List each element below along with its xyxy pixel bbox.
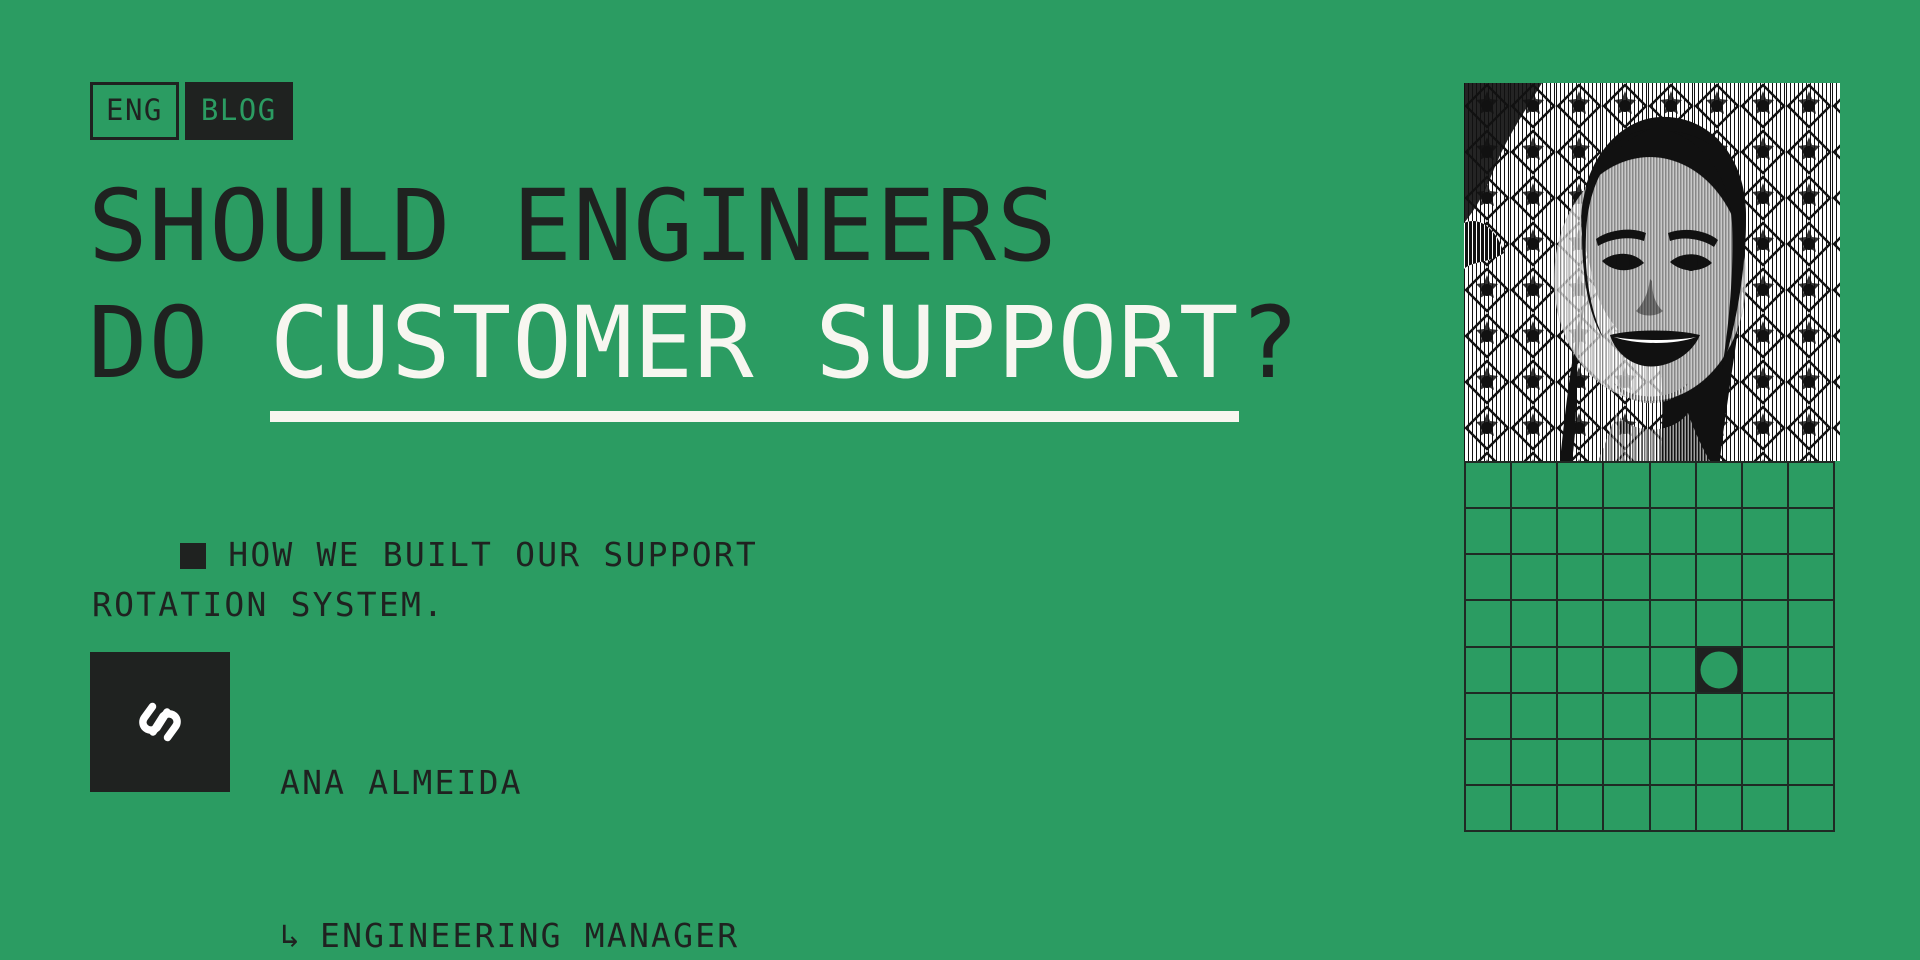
grid-cell xyxy=(1743,555,1789,601)
grid-cell xyxy=(1466,555,1512,601)
page-title: SHOULD ENGINEERS DO CUSTOMER SUPPORT? xyxy=(88,168,1428,402)
grid-cell xyxy=(1512,786,1558,832)
grid-cell xyxy=(1512,555,1558,601)
grid-cell xyxy=(1651,463,1697,509)
arrow-right-down-icon: ↳ xyxy=(280,910,320,960)
grid-cell xyxy=(1743,786,1789,832)
author-name: ANA ALMEIDA xyxy=(280,757,783,808)
grid-cell xyxy=(1651,786,1697,832)
grid-cell xyxy=(1604,463,1650,509)
grid-cell xyxy=(1697,694,1743,740)
grid-cell xyxy=(1604,786,1650,832)
subtitle: HOW WE BUILT OUR SUPPORT ROTATION SYSTEM… xyxy=(92,480,892,680)
grid-cell xyxy=(1466,648,1512,694)
grid-cell-circle-cutout-icon xyxy=(1697,648,1743,694)
grid-cell xyxy=(1789,694,1835,740)
grid-cell xyxy=(1697,740,1743,786)
grid-cell xyxy=(1466,694,1512,740)
grid-cell xyxy=(1558,509,1604,555)
grid-cell xyxy=(1743,601,1789,647)
grid-cell xyxy=(1512,463,1558,509)
grid-cell xyxy=(1697,786,1743,832)
grid-cell xyxy=(1466,740,1512,786)
grid-cell xyxy=(1604,694,1650,740)
decor-grid xyxy=(1464,461,1835,832)
grid-cell xyxy=(1466,601,1512,647)
grid-cell xyxy=(1604,740,1650,786)
grid-cell xyxy=(1743,740,1789,786)
grid-cell xyxy=(1743,463,1789,509)
grid-cell xyxy=(1743,648,1789,694)
grid-cell xyxy=(1697,555,1743,601)
grid-cell xyxy=(1651,740,1697,786)
grid-cell xyxy=(1651,555,1697,601)
grid-cell xyxy=(1558,555,1604,601)
grid-cell xyxy=(1466,509,1512,555)
author-role: ENGINEERING MANAGER xyxy=(320,916,739,955)
grid-cell xyxy=(1789,648,1835,694)
grid-cell xyxy=(1789,509,1835,555)
grid-cell xyxy=(1651,694,1697,740)
headline-highlight: CUSTOMER SUPPORT xyxy=(270,285,1240,402)
grid-cell xyxy=(1558,601,1604,647)
author-role-row: ↳ENGINEERING MANAGER xyxy=(280,910,783,960)
headline-line-2: DO CUSTOMER SUPPORT? xyxy=(88,285,1428,402)
badge-blog[interactable]: BLOG xyxy=(185,82,293,140)
grid-cell xyxy=(1789,740,1835,786)
grid-cell xyxy=(1558,694,1604,740)
grid-cell xyxy=(1697,601,1743,647)
grid-cell xyxy=(1558,463,1604,509)
grid-cell xyxy=(1604,555,1650,601)
grid-cell xyxy=(1512,694,1558,740)
grid-cell xyxy=(1697,509,1743,555)
grid-cell xyxy=(1651,509,1697,555)
grid-cell xyxy=(1604,648,1650,694)
grid-cell xyxy=(1512,601,1558,647)
grid-cell xyxy=(1512,740,1558,786)
grid-cell xyxy=(1651,648,1697,694)
grid-cell xyxy=(1789,555,1835,601)
grid-cell xyxy=(1466,463,1512,509)
grid-cell xyxy=(1651,601,1697,647)
author-block: ANA ALMEIDA ↳ENGINEERING MANAGER ↳INNGES… xyxy=(90,652,783,960)
headline-line-2-prefix: DO xyxy=(88,286,270,401)
grid-cell xyxy=(1789,601,1835,647)
grid-cell xyxy=(1512,509,1558,555)
grid-cell xyxy=(1789,463,1835,509)
headline-question-mark: ? xyxy=(1239,286,1300,401)
blog-card-canvas: ENG BLOG SHOULD ENGINEERS DO CUSTOMER SU… xyxy=(0,0,1920,960)
grid-cell xyxy=(1604,509,1650,555)
grid-cell xyxy=(1558,648,1604,694)
grid-cell xyxy=(1789,786,1835,832)
grid-cell xyxy=(1697,463,1743,509)
grid-cell xyxy=(1604,601,1650,647)
inngest-logo-icon xyxy=(90,652,230,792)
grid-cell xyxy=(1512,648,1558,694)
grid-cell xyxy=(1743,694,1789,740)
grid-cell xyxy=(1743,509,1789,555)
badge-eng[interactable]: ENG xyxy=(90,82,179,140)
author-portrait xyxy=(1464,83,1840,461)
grid-cell xyxy=(1558,786,1604,832)
grid-cell xyxy=(1466,786,1512,832)
headline-line-1: SHOULD ENGINEERS xyxy=(88,168,1428,285)
square-bullet-icon xyxy=(180,543,206,569)
grid-cell xyxy=(1558,740,1604,786)
badge-row: ENG BLOG xyxy=(90,82,293,140)
author-text: ANA ALMEIDA ↳ENGINEERING MANAGER ↳INNGES… xyxy=(280,655,783,960)
